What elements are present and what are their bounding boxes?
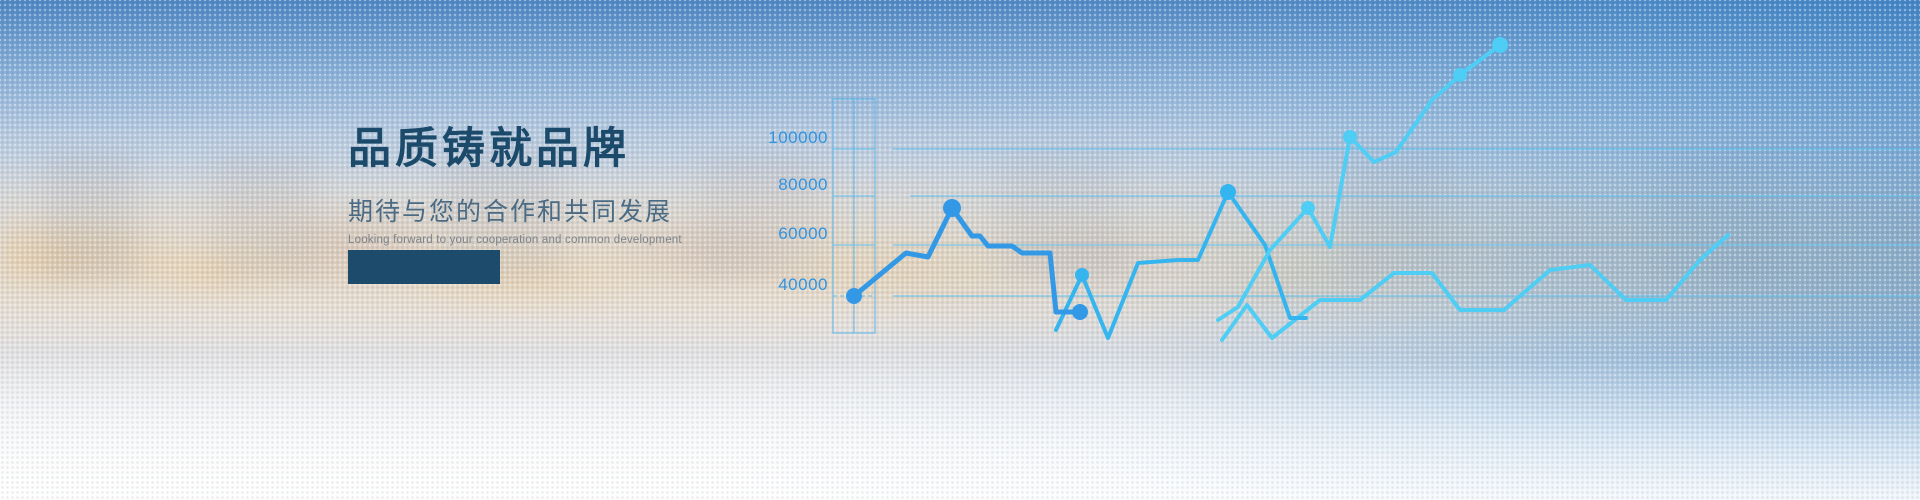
hero-banner: 品质铸就品牌 期待与您的合作和共同发展 Looking forward to y… — [0, 0, 1920, 500]
chart-series-2-marker — [1075, 268, 1089, 282]
y-tick-label: 60000 — [778, 224, 828, 243]
banner-copy-block: 品质铸就品牌 期待与您的合作和共同发展 Looking forward to y… — [348, 124, 778, 248]
chart-series-3-marker — [1453, 68, 1467, 82]
banner-subheadline-en: Looking forward to your cooperation and … — [348, 233, 778, 248]
y-tick-label: 100000 — [768, 128, 828, 147]
chart-gridlines — [833, 149, 1920, 296]
chart-series-4-line — [1222, 235, 1728, 340]
chart-series-1-marker — [1072, 304, 1088, 320]
chart-series-3-marker — [1301, 201, 1315, 215]
line-chart: 100000 80000 60000 40000 — [760, 0, 1920, 500]
chart-series-1-marker — [846, 288, 862, 304]
banner-cta-button[interactable] — [348, 250, 500, 284]
banner-headline: 品质铸就品牌 — [348, 124, 778, 175]
y-tick-label: 80000 — [778, 175, 828, 194]
chart-series-2-marker — [1220, 184, 1236, 200]
banner-subheadline: 期待与您的合作和共同发展 — [348, 197, 778, 227]
chart-y-axis-labels: 100000 80000 60000 40000 — [768, 128, 828, 294]
chart-series-3-line — [1218, 45, 1500, 320]
chart-series-3-marker — [1492, 37, 1508, 53]
y-tick-label: 40000 — [778, 275, 828, 294]
chart-series-1-marker — [943, 199, 961, 217]
chart-series-3-marker — [1343, 130, 1357, 144]
chart-series-2-line — [1056, 192, 1306, 338]
